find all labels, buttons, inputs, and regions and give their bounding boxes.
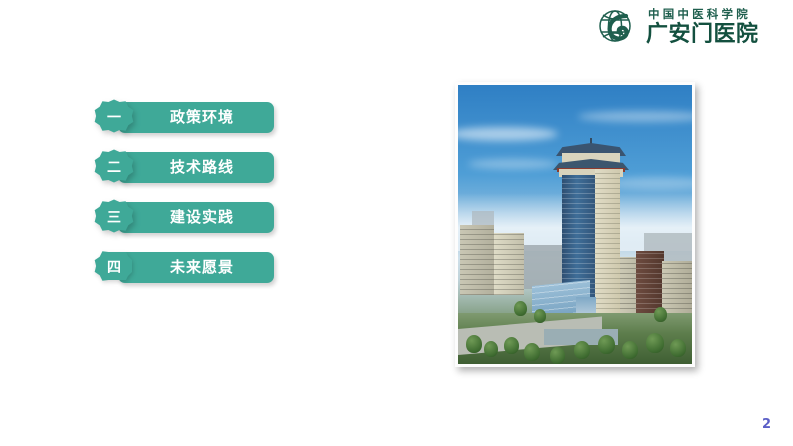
agenda-item-2-label: 技术路线 <box>170 152 234 183</box>
tree <box>654 307 667 322</box>
tree <box>622 341 638 359</box>
page-number: 2 <box>762 417 771 432</box>
agenda-item-3-badge <box>94 198 134 238</box>
agenda-item-2[interactable]: 技术路线 二 <box>94 148 274 188</box>
presentation-slide: 中国中医科学院 广安门医院 政策环境 一 技术路线 <box>0 0 793 446</box>
hospital-building-photo <box>458 85 692 364</box>
cloud-shape <box>608 177 692 189</box>
neighbor-building <box>494 233 524 295</box>
globe-swirl-logo-icon <box>596 5 642 49</box>
agenda-item-3-label: 建设实践 <box>170 202 234 233</box>
agenda-item-4[interactable]: 未来愿景 四 <box>94 248 274 288</box>
tree <box>466 335 482 353</box>
agenda-item-4-bar[interactable]: 未来愿景 <box>118 252 274 283</box>
tree <box>646 333 664 353</box>
agenda-item-2-badge <box>94 148 134 188</box>
logo-text-block: 中国中医科学院 广安门医院 <box>646 9 759 46</box>
agenda-item-1-bar[interactable]: 政策环境 <box>118 102 274 133</box>
neighbor-building <box>662 261 692 319</box>
tower-stone-facade <box>595 169 620 329</box>
cloud-shape <box>578 111 692 122</box>
agenda-menu: 政策环境 一 技术路线 二 建设实践 <box>94 98 274 298</box>
agenda-item-3-bar[interactable]: 建设实践 <box>118 202 274 233</box>
logo-institution-name: 中国中医科学院 <box>646 9 759 23</box>
agenda-item-4-label: 未来愿景 <box>170 252 234 283</box>
neighbor-building <box>460 225 494 295</box>
cloud-shape <box>458 127 558 141</box>
agenda-item-4-badge <box>94 248 134 288</box>
tree <box>504 337 519 354</box>
agenda-item-3[interactable]: 建设实践 三 <box>94 198 274 238</box>
tree <box>670 339 686 357</box>
hospital-building-photo-frame <box>455 82 695 367</box>
agenda-item-1-label: 政策环境 <box>170 102 234 133</box>
hospital-logo: 中国中医科学院 广安门医院 <box>596 3 790 51</box>
tree <box>574 341 590 359</box>
tree <box>514 301 527 316</box>
cloud-shape <box>468 159 558 169</box>
agenda-item-1-badge <box>94 98 134 138</box>
logo-hospital-name: 广安门医院 <box>646 24 759 46</box>
tree <box>598 335 615 354</box>
tree <box>524 343 540 361</box>
tree <box>534 309 546 323</box>
agenda-item-2-bar[interactable]: 技术路线 <box>118 152 274 183</box>
agenda-item-1[interactable]: 政策环境 一 <box>94 98 274 138</box>
tree <box>484 341 498 357</box>
tree <box>550 347 565 364</box>
